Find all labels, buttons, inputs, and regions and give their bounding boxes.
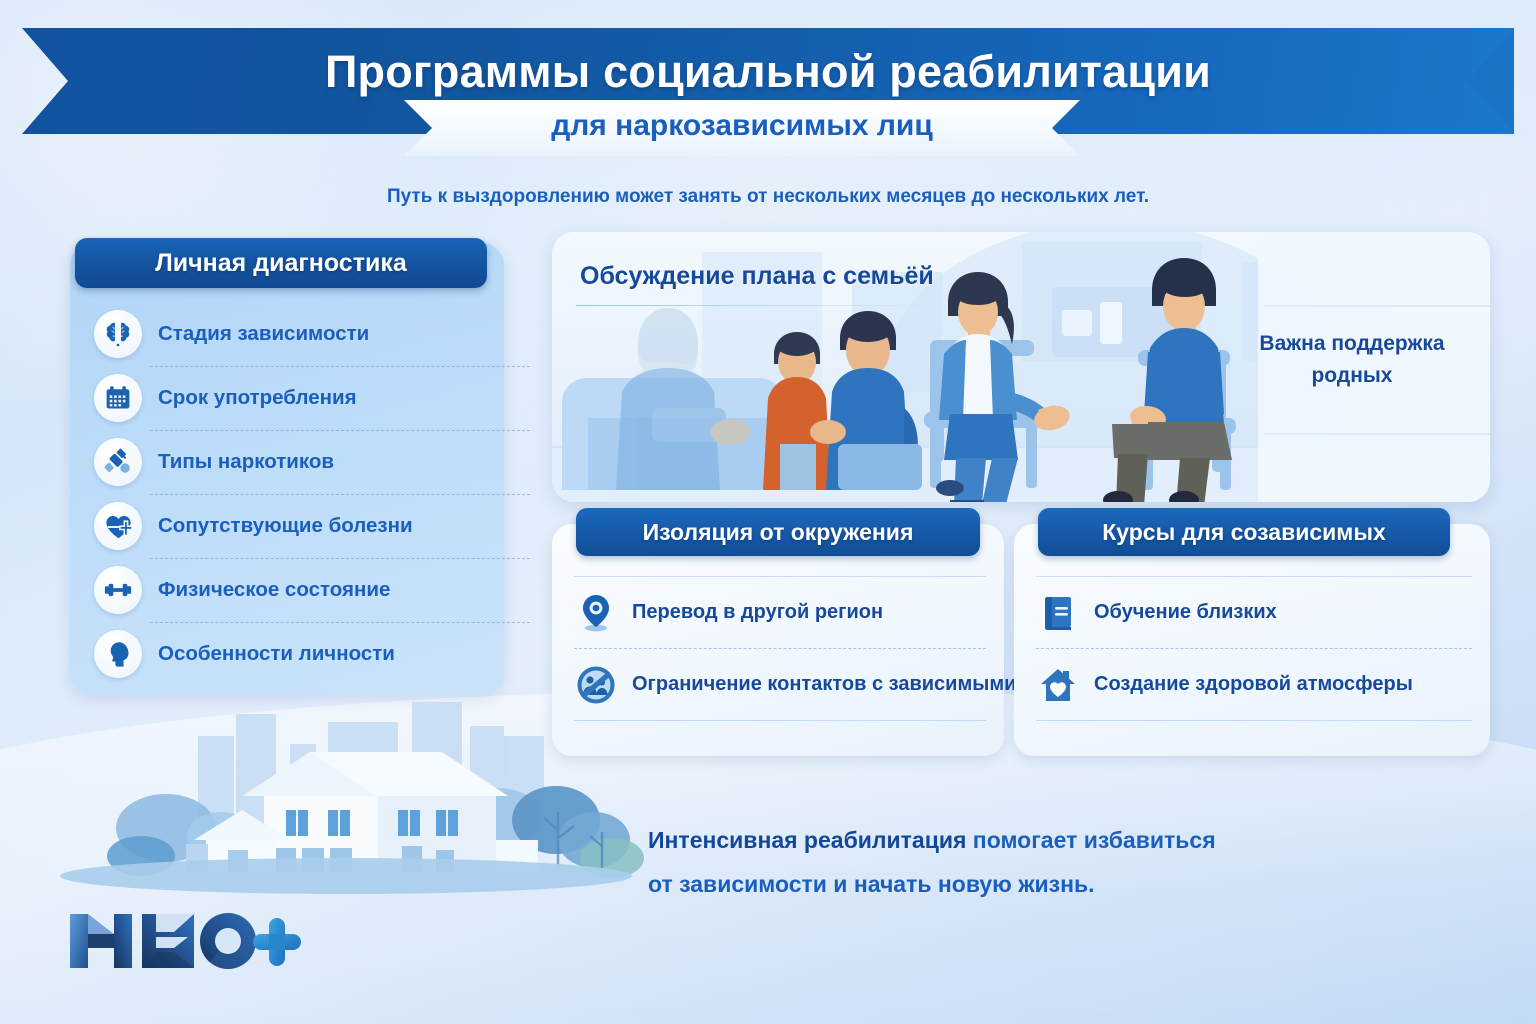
list-item-label: Ограничение контактов с зависимыми	[632, 673, 1016, 696]
list-item[interactable]: Перевод в другой регион	[574, 576, 986, 648]
book-icon	[1036, 591, 1080, 635]
family-discussion-card: Обсуждение плана с семьёй Важна поддержк…	[552, 232, 1490, 502]
list-item-label: Создание здоровой атмосферы	[1094, 673, 1413, 696]
home-heart-icon	[1036, 663, 1080, 707]
list-item-label: Обучение близких	[1094, 601, 1277, 624]
list-item[interactable]: Типы наркотиков	[94, 430, 486, 494]
list-item-label: Особенности личности	[158, 642, 395, 666]
isolation-card-list: Перевод в другой регион	[574, 576, 986, 720]
list-item[interactable]: Особенности личности	[94, 622, 486, 686]
calendar-icon	[94, 374, 142, 422]
footer-line-1: Интенсивная реабилитация помогает избави…	[648, 818, 1348, 862]
family-discussion-title: Обсуждение плана с семьёй	[580, 262, 934, 291]
list-item[interactable]: Создание здоровой атмосферы	[1036, 648, 1472, 720]
title-divider	[576, 305, 944, 306]
intro-text: Путь к выздоровлению может занять от нес…	[0, 186, 1536, 208]
family-support-note: Важна поддержка родных	[1234, 328, 1470, 391]
no-contact-icon	[574, 663, 618, 707]
list-item-label: Типы наркотиков	[158, 450, 334, 474]
footer-rest: помогает избавиться	[966, 827, 1215, 853]
isolation-card-heading: Изоляция от окружения	[576, 508, 980, 556]
page-title: Программы социальной реабилитации	[22, 46, 1514, 98]
list-item[interactable]: Сопутствующие болезни	[94, 494, 486, 558]
personal-diagnostics-heading-label: Личная диагностика	[155, 249, 407, 278]
list-item[interactable]: Обучение близких	[1036, 576, 1472, 648]
personal-diagnostics-heading: Личная диагностика	[75, 238, 487, 288]
head-profile-icon	[94, 630, 142, 678]
footer-line-2: от зависимости и начать новую жизнь.	[648, 862, 1348, 906]
courses-card-heading-label: Курсы для созависимых	[1102, 519, 1386, 546]
courses-card-heading: Курсы для созависимых	[1038, 508, 1450, 556]
map-pin-icon	[574, 591, 618, 635]
header-subtitle-banner: для наркозависимых лиц	[404, 100, 1080, 156]
footer-statement: Интенсивная реабилитация помогает избави…	[648, 818, 1348, 906]
card-bottom-divider	[574, 720, 986, 721]
list-item-label: Стадия зависимости	[158, 322, 369, 346]
courses-card-list: Обучение близких Создание здоровой атмос…	[1036, 576, 1472, 720]
neo-plus-logo[interactable]	[64, 908, 304, 974]
list-item[interactable]: Физическое состояние	[94, 558, 486, 622]
footer-strong: Интенсивная реабилитация	[648, 827, 966, 853]
list-item-label: Сопутствующие болезни	[158, 514, 413, 538]
card-bottom-divider	[1036, 720, 1472, 721]
brain-icon	[94, 310, 142, 358]
list-item[interactable]: Стадия зависимости	[94, 302, 486, 366]
list-item[interactable]: Срок употребления	[94, 366, 486, 430]
isolation-card: Изоляция от окружения Перевод в другой р…	[552, 524, 1004, 756]
courses-card: Курсы для созависимых Обучение близких	[1014, 524, 1490, 756]
list-item-label: Перевод в другой регион	[632, 601, 883, 624]
heart-plus-icon	[94, 502, 142, 550]
list-item-label: Физическое состояние	[158, 578, 390, 602]
personal-diagnostics-list: Стадия зависимости	[94, 302, 486, 686]
syringe-icon	[94, 438, 142, 486]
isolation-card-heading-label: Изоляция от окружения	[643, 519, 914, 546]
page-subtitle: для наркозависимых лиц	[404, 109, 1080, 143]
dumbbell-icon	[94, 566, 142, 614]
infographic-root: Программы социальной реабилитации для на…	[0, 0, 1536, 1024]
list-item[interactable]: Ограничение контактов с зависимыми	[574, 648, 986, 720]
list-item-label: Срок употребления	[158, 386, 357, 410]
